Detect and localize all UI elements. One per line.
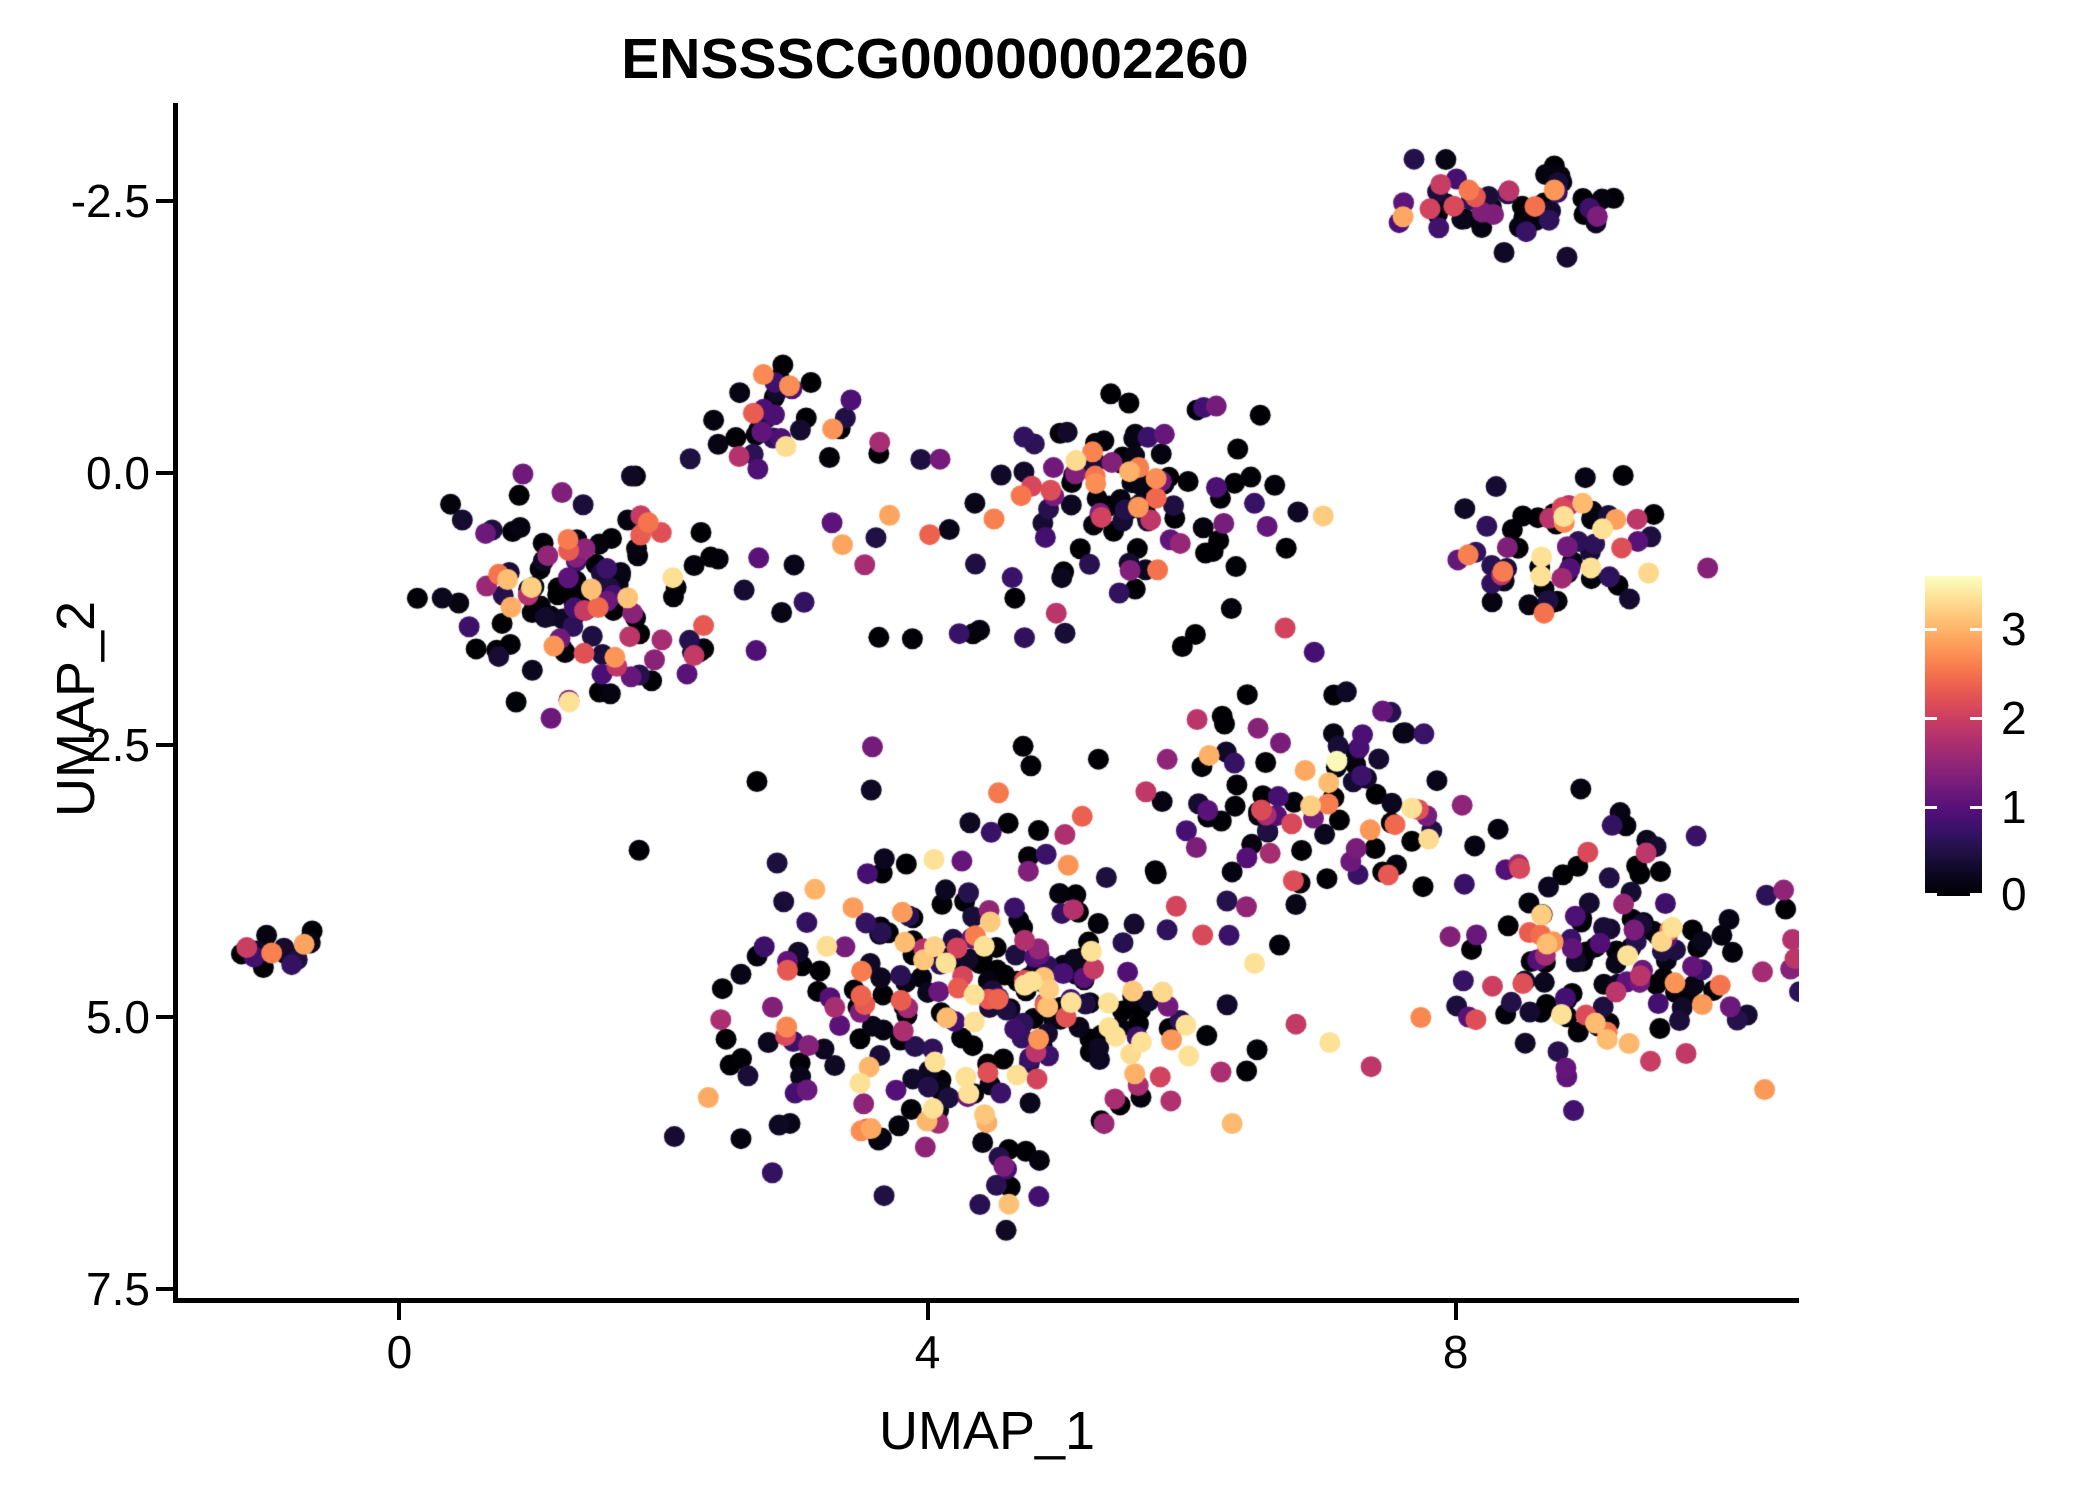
umap-feature-plot: ENSSSCG00000002260 7.55.02.50.0-2.5048 U… <box>0 0 2100 1500</box>
plot-panel <box>175 103 1799 1300</box>
y-tick-label: -2.5 <box>71 174 150 228</box>
color-legend: 3210 <box>1925 576 2085 906</box>
x-tick-label: 8 <box>1443 1325 1469 1379</box>
colorbar <box>1925 576 1982 896</box>
y-axis-line <box>173 103 178 1303</box>
y-tick-mark <box>156 199 173 203</box>
x-tick-label: 0 <box>387 1325 413 1379</box>
x-tick-mark <box>397 1303 401 1320</box>
y-tick-mark <box>156 471 173 475</box>
y-tick-mark <box>156 743 173 747</box>
colorbar-tick-mark <box>1925 717 1937 720</box>
x-tick-label: 4 <box>915 1325 941 1379</box>
scatter-canvas <box>175 103 1799 1300</box>
colorbar-tick-label: 2 <box>2001 691 2027 745</box>
colorbar-tick-mark <box>1970 717 1982 720</box>
colorbar-tick-mark <box>1925 893 1937 896</box>
colorbar-tick-mark <box>1925 806 1937 809</box>
page-title: ENSSSCG00000002260 <box>0 26 1870 92</box>
y-tick-mark <box>156 1287 173 1291</box>
colorbar-tick-label: 1 <box>2001 780 2027 834</box>
y-axis-title: UMAP_2 <box>45 359 107 1059</box>
colorbar-tick-mark <box>1925 628 1937 631</box>
x-axis-line <box>173 1298 1799 1303</box>
colorbar-tick-mark <box>1970 628 1982 631</box>
colorbar-tick-label: 3 <box>2001 602 2027 656</box>
x-tick-mark <box>1454 1303 1458 1320</box>
y-tick-label: 7.5 <box>86 1262 150 1316</box>
colorbar-tick-mark <box>1970 806 1982 809</box>
colorbar-tick-mark <box>1970 893 1982 896</box>
colorbar-gradient <box>1925 576 1982 896</box>
y-tick-mark <box>156 1015 173 1019</box>
x-axis-title: UMAP_1 <box>175 1400 1799 1462</box>
x-tick-mark <box>926 1303 930 1320</box>
colorbar-tick-label: 0 <box>2001 867 2027 921</box>
